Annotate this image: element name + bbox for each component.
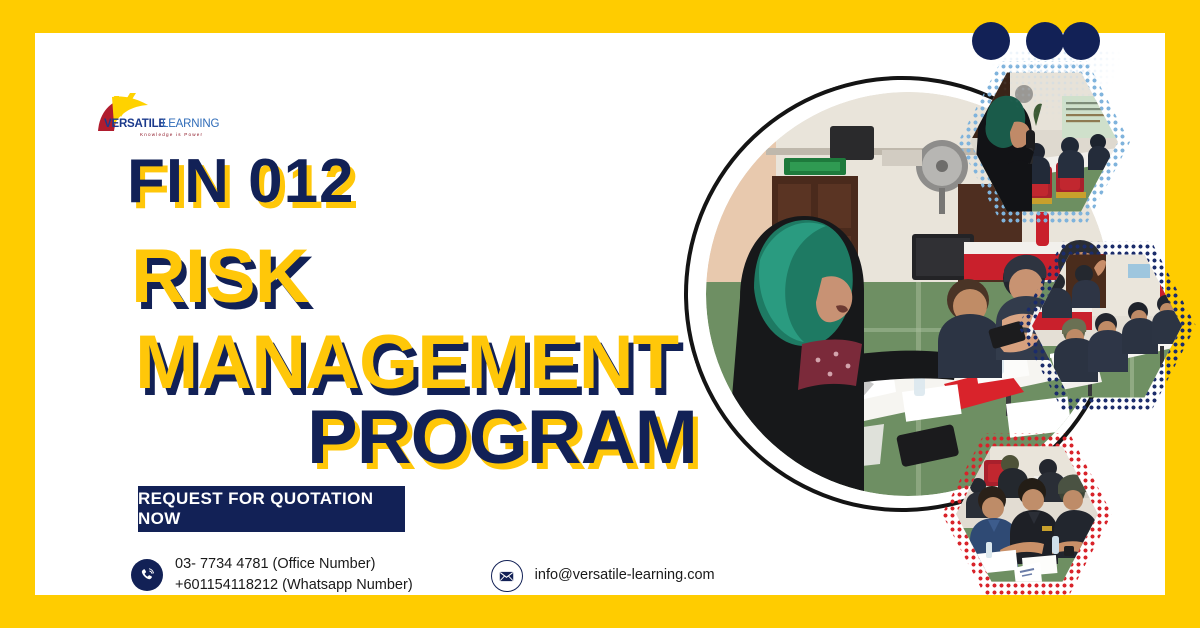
request-quotation-button[interactable]: REQUEST FOR QUOTATION NOW (138, 486, 405, 532)
phone-numbers: 03- 7734 4781 (Office Number) +601154118… (175, 554, 413, 595)
course-code-heading: FIN 012 (127, 151, 355, 213)
envelope-icon (491, 560, 523, 592)
svg-text:VERSATILE: VERSATILE (104, 118, 166, 130)
email-contact[interactable]: info@versatile-learning.com (491, 554, 715, 592)
company-logo[interactable]: VERSATILE LEARNING Knowledge is Power (90, 91, 240, 141)
logo-mark-icon: VERSATILE LEARNING Knowledge is Power (90, 91, 240, 141)
email-address: info@versatile-learning.com (535, 565, 715, 586)
whatsapp-number: +601154118212 (Whatsapp Number) (175, 575, 413, 595)
phone-contact[interactable]: 03- 7734 4781 (Office Number) +601154118… (131, 554, 413, 595)
headline-line-1: RISK (131, 239, 309, 315)
dot-halftone-wash (990, 50, 1120, 120)
svg-text:LEARNING: LEARNING (162, 118, 219, 130)
decor-dot-3 (1062, 22, 1100, 60)
contact-bar: 03- 7734 4781 (Office Number) +601154118… (131, 554, 715, 595)
promotional-banner: VERSATILE LEARNING Knowledge is Power FI… (0, 0, 1200, 628)
email-address-text: info@versatile-learning.com (535, 565, 715, 586)
phone-icon (131, 559, 163, 591)
headline-line-3: PROGRAM (307, 400, 697, 476)
decor-dot-2 (1026, 22, 1064, 60)
svg-text:Knowledge is Power: Knowledge is Power (140, 132, 203, 137)
office-number: 03- 7734 4781 (Office Number) (175, 554, 413, 575)
headline-line-2: MANAGEMENT (135, 325, 678, 401)
decor-dot-1 (972, 22, 1010, 60)
